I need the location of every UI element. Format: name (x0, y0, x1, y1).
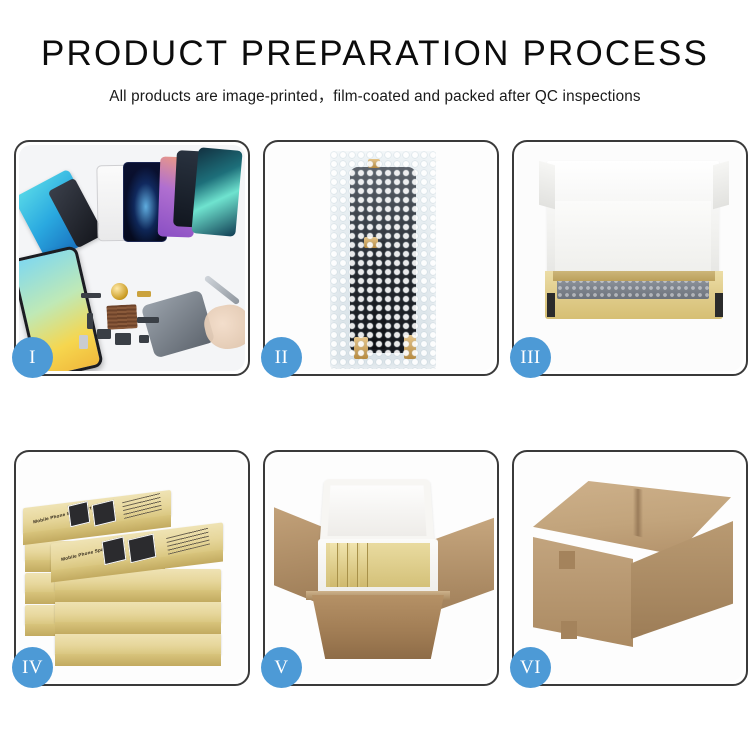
small-part-image (87, 313, 93, 329)
photo-open-kraft-box (517, 145, 743, 371)
kraft-box-image (55, 633, 221, 655)
step-badge-4: IV (12, 647, 53, 688)
step-badge-5: V (261, 647, 302, 688)
packed-box-slat-image (360, 543, 368, 587)
gold-coil-part-image (111, 283, 128, 300)
small-part-image (139, 335, 149, 343)
box-lid-flap-right-image (713, 161, 729, 210)
kraft-box-labeled-image: Mobile Phone Spare Parts (23, 490, 171, 534)
process-step-6[interactable]: VI (512, 450, 748, 686)
box-stack-image: Mobile Phone Spare Parts Mobile Phone Sp… (19, 455, 245, 681)
box-spec-lines (166, 527, 210, 555)
step-badge-6: VI (510, 647, 551, 688)
foam-sheet-image (555, 201, 711, 273)
box-spec-lines (122, 493, 162, 519)
step-badge-1: I (12, 337, 53, 378)
hand-image (201, 301, 245, 354)
photo-stacked-kraft-boxes: Mobile Phone Spare Parts Mobile Phone Sp… (19, 455, 245, 681)
small-part-image (137, 317, 159, 323)
small-part-image (115, 333, 131, 345)
photo-phone-parts-overview (19, 145, 245, 371)
packed-box-slat-image (330, 543, 338, 587)
screwdriver-image (204, 275, 241, 306)
box-swatch-image (68, 501, 91, 527)
process-step-2[interactable]: II (263, 140, 499, 376)
carton-tab-image (559, 551, 575, 569)
tray-inner-edge-image (553, 271, 715, 281)
process-step-5[interactable]: V (263, 450, 499, 686)
process-grid: I II (14, 140, 736, 686)
photo-carton-with-foam-liner (268, 455, 494, 681)
process-step-3[interactable]: III (512, 140, 748, 376)
carton-body-image (312, 595, 444, 659)
process-step-1[interactable]: I (14, 140, 250, 376)
packed-box-slat-image (350, 543, 358, 587)
logic-board-image (106, 304, 137, 330)
step-badge-2: II (261, 337, 302, 378)
small-part-image (81, 293, 101, 298)
box-corner-image (547, 293, 555, 317)
photo-bubble-wrapped-part (268, 145, 494, 371)
teal-screen-phone-image (191, 147, 242, 237)
small-part-image (97, 329, 111, 339)
carton-tab-image (561, 621, 577, 639)
kraft-box-image (55, 601, 221, 623)
page-title: PRODUCT PREPARATION PROCESS (0, 36, 750, 71)
small-part-image (137, 291, 151, 297)
step-badge-3: III (510, 337, 551, 378)
infographic-page: PRODUCT PREPARATION PROCESS All products… (0, 0, 750, 750)
bubble-texture (330, 151, 436, 369)
page-subtitle: All products are image-printed，film-coat… (0, 84, 750, 106)
carton-front-face-image (533, 537, 633, 647)
packed-box-slat-image (340, 543, 348, 587)
header: PRODUCT PREPARATION PROCESS All products… (0, 0, 750, 106)
foam-lid-image (320, 479, 435, 543)
process-step-4[interactable]: Mobile Phone Spare Parts Mobile Phone Sp… (14, 450, 250, 686)
photo-sealed-shipping-carton (517, 455, 743, 681)
box-corner-image (715, 293, 723, 317)
bubble-wrap-bag-image (330, 151, 436, 369)
small-part-image (79, 335, 88, 349)
box-lid-flap-left-image (539, 161, 555, 210)
